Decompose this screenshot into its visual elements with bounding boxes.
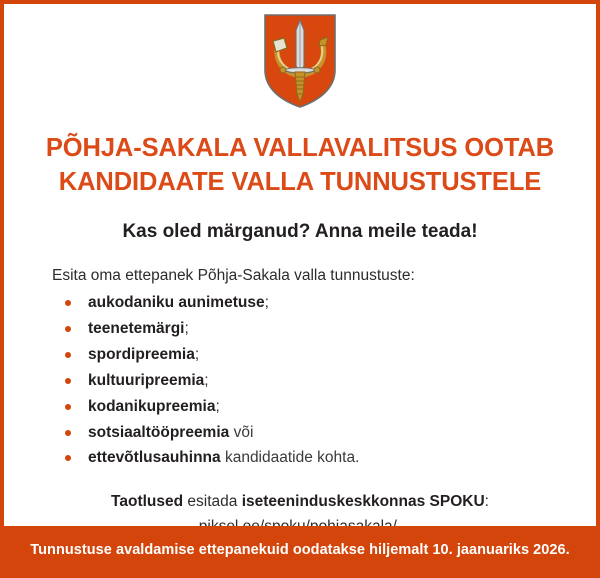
bullet-dot-icon: [65, 352, 71, 358]
bullet-dot-icon: [65, 300, 71, 306]
body-section: Esita oma ettepanek Põhja-Sakala valla t…: [4, 267, 596, 467]
title-line-2: KANDIDAATE VALLA TUNNUSTUSTELE: [4, 166, 596, 200]
list-item-suffix: või: [229, 424, 253, 441]
list-item: spordipreemia;: [60, 346, 596, 363]
list-item: kodanikupreemia;: [60, 398, 596, 415]
deadline-text: Tunnustuse avaldamise ettepanekuid oodat…: [30, 542, 569, 558]
bullet-dot-icon: [65, 326, 71, 332]
bullet-dot-icon: [65, 430, 71, 436]
list-item-suffix: ;: [204, 372, 208, 389]
list-item-label: spordipreemia: [88, 346, 195, 363]
title-line-1: PÕHJA-SAKALA VALLAVALITSUS OOTAB: [4, 132, 596, 166]
apply-middle-text: esitada: [183, 493, 242, 510]
list-item: ettevõtlusauhinna kandidaatide kohta.: [60, 449, 596, 466]
list-item-label: ettevõtlusauhinna: [88, 449, 221, 466]
award-categories-list: aukodaniku aunimetuse; teenetemärgi; spo…: [52, 294, 596, 467]
intro-text: Esita oma ettepanek Põhja-Sakala valla t…: [52, 267, 596, 285]
list-item-suffix: ;: [265, 294, 269, 311]
list-item: kultuuripreemia;: [60, 372, 596, 389]
bullet-dot-icon: [65, 404, 71, 410]
list-item: aukodaniku aunimetuse;: [60, 294, 596, 311]
subtitle: Kas oled märganud? Anna meile teada!: [4, 221, 596, 243]
list-item-suffix: kandidaatide kohta.: [221, 449, 360, 466]
list-item: teenetemärgi;: [60, 320, 596, 337]
apply-colon: :: [485, 493, 489, 510]
deadline-banner: Tunnustuse avaldamise ettepanekuid oodat…: [4, 526, 596, 574]
bullet-dot-icon: [65, 455, 71, 461]
list-item-label: sotsiaaltööpreemia: [88, 424, 229, 441]
list-item-label: kodanikupreemia: [88, 398, 216, 415]
coat-of-arms-icon: [262, 12, 338, 110]
list-item-suffix: ;: [195, 346, 199, 363]
list-item-label: aukodaniku aunimetuse: [88, 294, 265, 311]
crest-container: [4, 4, 596, 110]
bullet-dot-icon: [65, 378, 71, 384]
list-item-suffix: ;: [184, 320, 188, 337]
list-item-label: teenetemärgi: [88, 320, 184, 337]
apply-bold-1: Taotlused: [111, 493, 183, 510]
list-item: sotsiaaltööpreemia või: [60, 424, 596, 441]
list-item-label: kultuuripreemia: [88, 372, 204, 389]
page-title: PÕHJA-SAKALA VALLAVALITSUS OOTAB KANDIDA…: [4, 132, 596, 199]
announcement-poster: PÕHJA-SAKALA VALLAVALITSUS OOTAB KANDIDA…: [0, 0, 600, 578]
list-item-suffix: ;: [216, 398, 220, 415]
apply-bold-2: iseteeninduskeskkonnas SPOKU: [242, 493, 485, 510]
